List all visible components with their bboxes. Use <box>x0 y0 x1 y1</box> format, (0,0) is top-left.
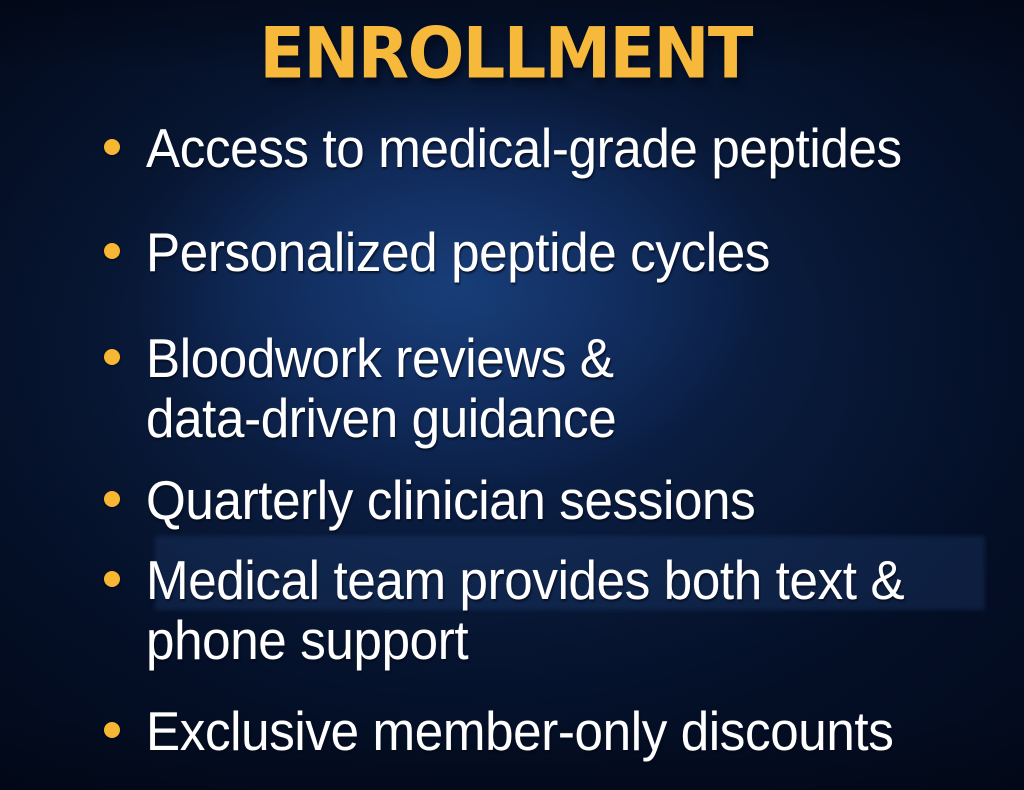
bullet-dot-icon <box>104 243 120 259</box>
bullet-dot-icon <box>104 349 120 365</box>
list-item: Bloodwork reviews & data-driven guidance <box>104 328 652 448</box>
list-item-label: Personalized peptide cycles <box>146 222 770 282</box>
slide-title: ENROLLMENT <box>0 18 1024 89</box>
slide-content: ENROLLMENT Access to medical-grade pepti… <box>0 0 1024 790</box>
list-item: Personalized peptide cycles <box>104 222 817 282</box>
list-item: Access to medical-grade peptides <box>104 118 959 178</box>
bullet-dot-icon <box>104 491 120 507</box>
list-item: Medical team provides both text & phone … <box>104 550 961 670</box>
bullet-dot-icon <box>104 571 120 587</box>
list-item-label: Bloodwork reviews & data-driven guidance <box>146 328 616 448</box>
list-item-label: Access to medical-grade peptides <box>146 118 902 178</box>
bullet-dot-icon <box>104 139 120 155</box>
list-item-label: Quarterly clinician sessions <box>146 470 755 530</box>
enrollment-slide: ENROLLMENT Access to medical-grade pepti… <box>0 0 1024 790</box>
list-item-label: Exclusive member-only discounts <box>146 701 893 761</box>
bullet-dot-icon <box>104 722 120 738</box>
list-item-label: Medical team provides both text & phone … <box>146 550 904 670</box>
list-item: Quarterly clinician sessions <box>104 470 801 530</box>
list-item: Exclusive member-only discounts <box>104 701 950 761</box>
